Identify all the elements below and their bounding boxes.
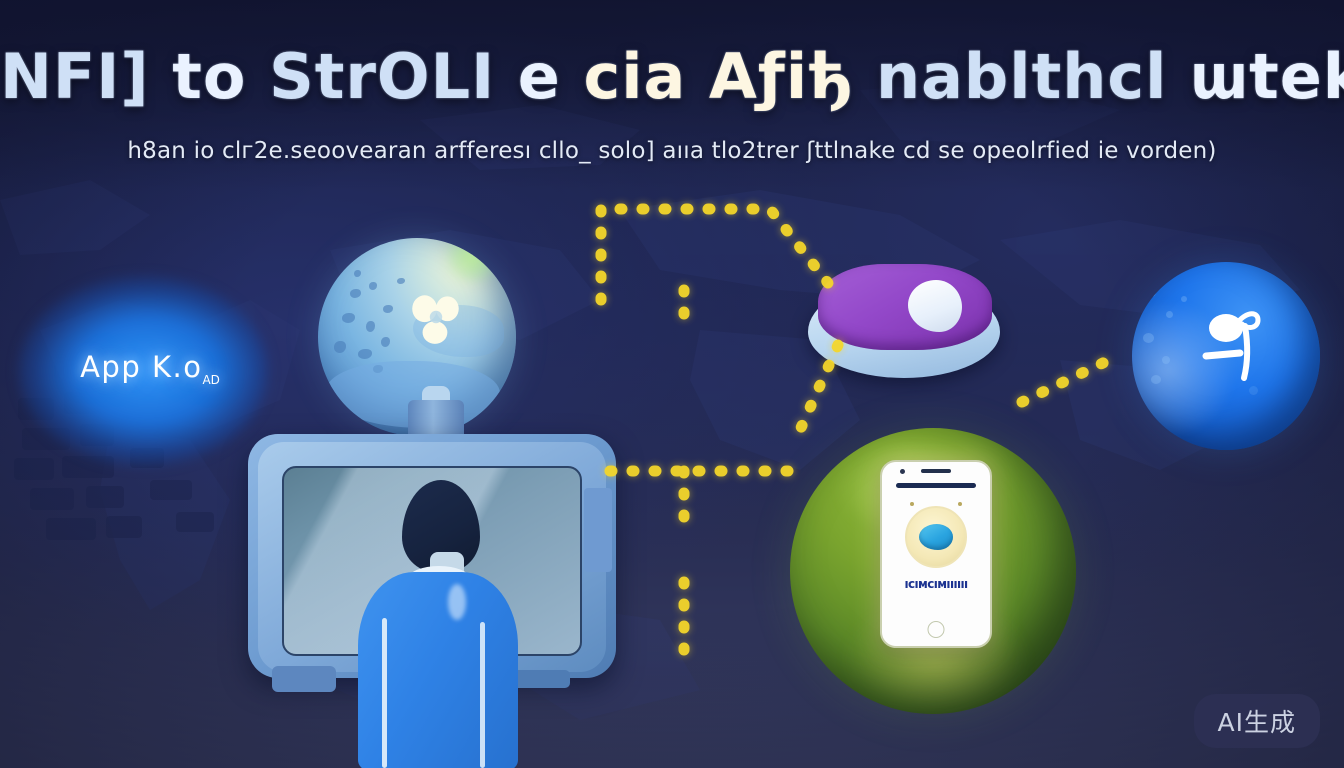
globe-speck bbox=[358, 349, 372, 359]
illustration-canvas: NFI] to StrOLI e cia Aƒiђ nablthcl աteki… bbox=[0, 0, 1344, 768]
title-segment: NFI] bbox=[0, 40, 172, 113]
title-segment: nablthcl bbox=[876, 40, 1190, 113]
globe-clover-icon bbox=[405, 286, 467, 348]
globe-speck bbox=[350, 289, 361, 298]
phone-camera-icon bbox=[900, 469, 905, 474]
phone-home-button[interactable] bbox=[928, 621, 945, 638]
page-title: NFI] to StrOLI e cia Aƒiђ nablthcl աteki… bbox=[0, 40, 1344, 113]
phone-tick-icon bbox=[958, 502, 962, 506]
page-subtitle: h8an io clг2e.seoovearan arfferesı cllo_… bbox=[0, 138, 1344, 164]
smartphone-mockup[interactable]: ıcıмcıмıııııı bbox=[880, 460, 992, 648]
monitor-foot-left bbox=[272, 666, 336, 692]
globe-speck bbox=[334, 341, 346, 353]
title-segment: Aƒiђ bbox=[709, 40, 876, 113]
globe-speck bbox=[397, 278, 405, 284]
purple-node-top bbox=[818, 264, 992, 350]
phone-app-label: ıcıмcıмıııııı bbox=[882, 577, 990, 591]
globe-speck bbox=[383, 305, 393, 313]
title-segment: to bbox=[172, 40, 269, 113]
blue-sphere-speck bbox=[1181, 296, 1187, 302]
person-back-view bbox=[352, 480, 522, 768]
person-shoulder-highlight bbox=[448, 584, 466, 620]
title-segment: cia bbox=[583, 40, 708, 113]
phone-app-icon[interactable] bbox=[905, 506, 967, 568]
title-segment: e bbox=[495, 40, 583, 113]
blue-sphere-speck bbox=[1151, 375, 1161, 384]
phone-speaker-notch bbox=[921, 469, 951, 473]
phone-app-icon-shape bbox=[919, 524, 953, 550]
abstract-figure-icon bbox=[1200, 296, 1274, 396]
phone-header-bar bbox=[896, 483, 976, 488]
purple-capsule-node bbox=[806, 258, 1002, 380]
globe-highlight bbox=[441, 238, 505, 282]
globe-speck bbox=[381, 337, 390, 347]
blue-sphere-speck bbox=[1147, 288, 1156, 297]
person-shirt-seam bbox=[382, 618, 387, 768]
app-orb-superscript: AD bbox=[202, 373, 219, 387]
globe-speck bbox=[354, 270, 361, 277]
title-segment: StrOLI bbox=[269, 40, 495, 113]
phone-tick-icon bbox=[910, 502, 914, 506]
globe-speck bbox=[342, 313, 355, 323]
app-orb-label: App K.oAD bbox=[60, 350, 240, 387]
title-segment: աtekiЇ bbox=[1190, 40, 1344, 113]
monitor-side-panel bbox=[584, 488, 612, 572]
person-shirt-seam bbox=[480, 622, 485, 768]
app-orb-label-text: App K.o bbox=[80, 350, 202, 384]
blue-glyph-sphere bbox=[1132, 262, 1320, 450]
globe-speck bbox=[369, 282, 377, 290]
globe-speck bbox=[366, 321, 375, 332]
blue-sphere-speck bbox=[1166, 311, 1173, 318]
ai-generated-badge: AI生成 bbox=[1194, 694, 1320, 748]
